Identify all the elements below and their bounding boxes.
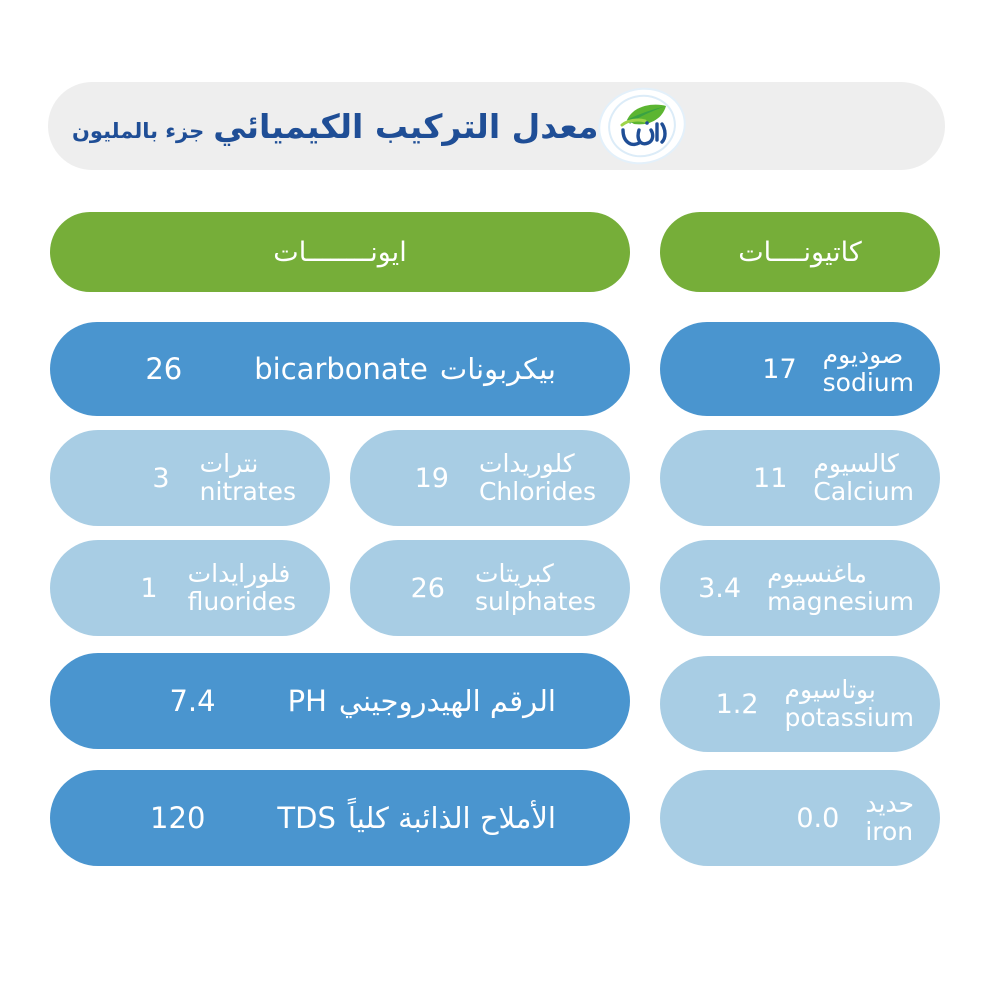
header-panel: معدل التركيب الكيميائي جزء بالمليون <box>48 82 945 170</box>
cation-iron-name-ar: حديد <box>865 790 914 818</box>
cation-row-magnesium[interactable]: ماغنسيوم magnesium 3.4 <box>660 540 940 636</box>
anion-ph-name-en: PH <box>288 685 327 717</box>
cation-iron-value: 0.0 <box>796 803 839 834</box>
anion-bicarbonate-value: 26 <box>145 352 182 386</box>
nova-leaf-logo-icon <box>600 90 684 162</box>
anion-row-nitrates[interactable]: نترات nitrates 3 <box>50 430 330 526</box>
cation-iron-name-en: iron <box>865 818 913 846</box>
cation-row-calcium[interactable]: كالسيوم Calcium 11 <box>660 430 940 526</box>
anion-chlorides-names: كلوريدات Chlorides <box>479 450 596 506</box>
page-title-main: معدل التركيب الكيميائي <box>213 107 598 146</box>
anion-sulphates-name-en: sulphates <box>475 588 596 616</box>
anion-chlorides-value: 19 <box>415 463 449 494</box>
cation-row-iron[interactable]: حديد iron 0.0 <box>660 770 940 866</box>
anion-fluorides-name-en: fluorides <box>188 588 296 616</box>
anion-tds-names: الأملاح الذائبة كلياً TDS <box>277 802 556 834</box>
anion-ph-names: الرقم الهيدروجيني PH <box>288 685 556 717</box>
anions-header-label: ايونــــــــات <box>273 237 406 268</box>
anion-row-ph[interactable]: الرقم الهيدروجيني PH 7.4 <box>50 653 630 749</box>
anion-row-chlorides[interactable]: كلوريدات Chlorides 19 <box>350 430 630 526</box>
anion-ph-name-ar: الرقم الهيدروجيني <box>339 685 556 717</box>
page-title-unit: جزء بالمليون <box>72 119 204 143</box>
cation-magnesium-name-ar: ماغنسيوم <box>767 560 867 588</box>
page-title: معدل التركيب الكيميائي جزء بالمليون <box>72 107 598 146</box>
anion-chlorides-name-en: Chlorides <box>479 478 596 506</box>
anion-tds-name-en: TDS <box>277 802 335 834</box>
anion-fluorides-names: فلورايدات fluorides <box>188 560 296 616</box>
cation-iron-names: حديد iron <box>865 790 914 846</box>
cation-calcium-name-en: Calcium <box>813 478 914 506</box>
cation-potassium-value: 1.2 <box>716 689 759 720</box>
column-header-cations: كاتيونــــات <box>660 212 940 292</box>
anion-nitrates-value: 3 <box>152 463 169 494</box>
cation-sodium-name-en: sodium <box>823 369 914 397</box>
cation-magnesium-names: ماغنسيوم magnesium <box>767 560 914 616</box>
cation-sodium-name-ar: صوديوم <box>823 341 904 369</box>
cation-calcium-value: 11 <box>753 463 787 494</box>
anion-row-tds[interactable]: الأملاح الذائبة كلياً TDS 120 <box>50 770 630 866</box>
cation-calcium-name-ar: كالسيوم <box>813 450 898 478</box>
anion-sulphates-names: كبريتات sulphates <box>475 560 596 616</box>
column-header-anions: ايونــــــــات <box>50 212 630 292</box>
anion-bicarbonate-names: بيكربونات bicarbonate <box>254 353 556 385</box>
anion-sulphates-value: 26 <box>411 573 445 604</box>
cations-header-label: كاتيونــــات <box>738 237 862 268</box>
anion-fluorides-value: 1 <box>140 573 157 604</box>
cation-row-sodium[interactable]: صوديوم sodium 17 <box>660 322 940 416</box>
cation-row-potassium[interactable]: بوتاسيوم potassium 1.2 <box>660 656 940 752</box>
anion-row-bicarbonate[interactable]: بيكربونات bicarbonate 26 <box>50 322 630 416</box>
anion-bicarbonate-name-ar: بيكربونات <box>440 353 556 385</box>
anion-ph-value: 7.4 <box>169 684 215 718</box>
anion-chlorides-name-ar: كلوريدات <box>479 450 575 478</box>
cation-sodium-value: 17 <box>762 354 796 385</box>
anion-row-sulphates[interactable]: كبريتات sulphates 26 <box>350 540 630 636</box>
anion-nitrates-name-en: nitrates <box>200 478 296 506</box>
anion-bicarbonate-name-en: bicarbonate <box>254 353 428 385</box>
anion-tds-name-ar: الأملاح الذائبة كلياً <box>348 802 556 834</box>
anion-tds-value: 120 <box>150 801 205 835</box>
cation-magnesium-value: 3.4 <box>698 573 741 604</box>
cation-potassium-name-ar: بوتاسيوم <box>785 676 876 704</box>
cation-calcium-names: كالسيوم Calcium <box>813 450 914 506</box>
cation-magnesium-name-en: magnesium <box>767 588 914 616</box>
anion-fluorides-name-ar: فلورايدات <box>188 560 291 588</box>
anion-nitrates-name-ar: نترات <box>200 450 259 478</box>
cation-potassium-names: بوتاسيوم potassium <box>785 676 914 732</box>
anion-nitrates-names: نترات nitrates <box>200 450 296 506</box>
anion-sulphates-name-ar: كبريتات <box>475 560 554 588</box>
cation-sodium-names: صوديوم sodium <box>823 341 914 397</box>
cation-potassium-name-en: potassium <box>785 704 914 732</box>
anion-row-fluorides[interactable]: فلورايدات fluorides 1 <box>50 540 330 636</box>
